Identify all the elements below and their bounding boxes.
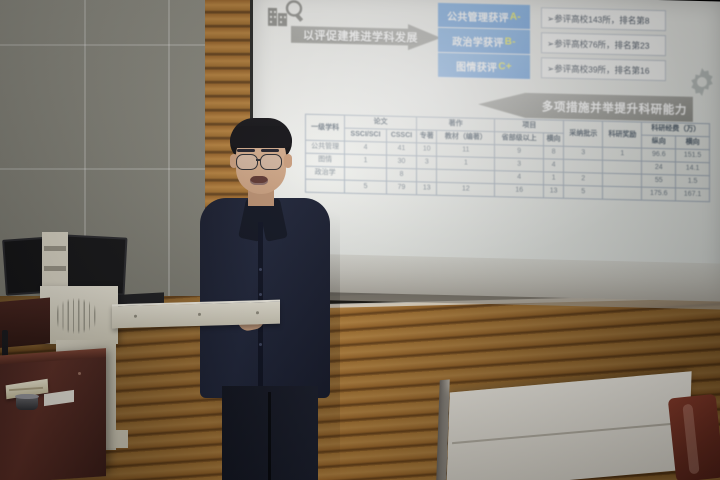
monitor-mount [42, 232, 68, 290]
cup-rim [15, 394, 39, 399]
eyeglasses-lens-right [260, 154, 282, 170]
jacket-button [259, 268, 262, 271]
ear-right [284, 154, 292, 168]
presenter-mouth [250, 176, 268, 185]
lectern-speaker-grill [53, 298, 99, 334]
eyebrow-right [261, 149, 279, 152]
eyebrow-left [237, 149, 255, 152]
desk-screw [78, 372, 81, 375]
presenter-hair-fringe [230, 126, 292, 148]
lectern-desktop [112, 300, 280, 329]
eyeglasses-lens-left [236, 154, 258, 170]
jacket-button [259, 343, 262, 346]
jacket-button [259, 293, 262, 296]
front-desk [0, 352, 106, 480]
lecture-hall-photo: 学科评估结果 以评促建推进学科发展 公共管理获评 [0, 0, 720, 480]
trouser-seam [268, 392, 271, 480]
eyeglasses-bridge [256, 159, 261, 161]
